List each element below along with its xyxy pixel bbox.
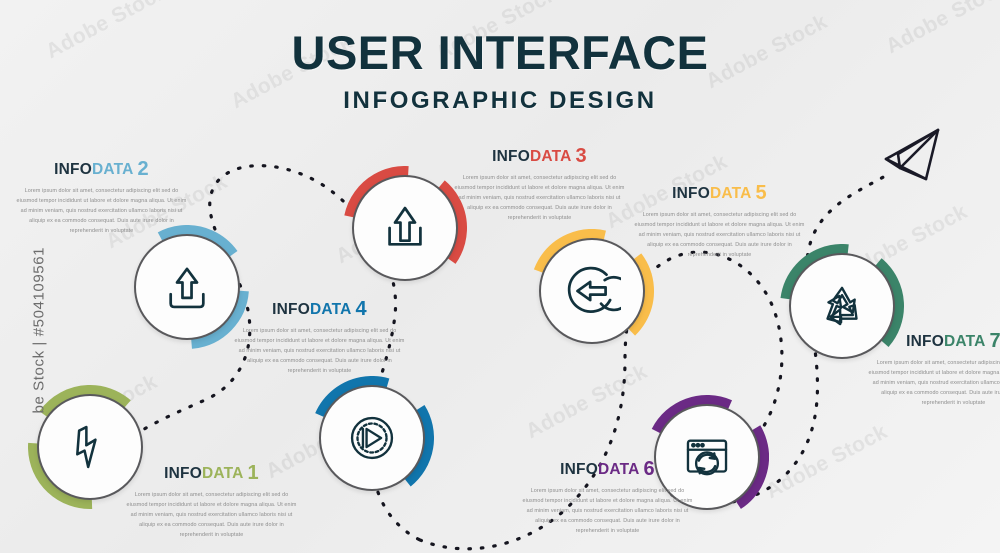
info-body-4: Lorem ipsum dolor sit amet, consectetur … xyxy=(232,326,407,376)
info-body-6: Lorem ipsum dolor sit amet, consectetur … xyxy=(520,486,695,536)
node-disc-4 xyxy=(319,385,425,491)
info-number: 2 xyxy=(138,158,149,180)
info-block-5: INFODATA5 Lorem ipsum dolor sit amet, co… xyxy=(632,182,807,260)
fast-forward-icon xyxy=(343,409,401,467)
stock-watermark-side: be Stock | #504109561 xyxy=(31,184,48,414)
page-title: USER INTERFACE xyxy=(0,28,1000,77)
info-title-4: INFODATA4 xyxy=(232,298,407,321)
info-prefix: INFO xyxy=(54,161,92,178)
node-circle-2[interactable] xyxy=(134,234,240,340)
info-block-1: INFODATA1 Lorem ipsum dolor sit amet, co… xyxy=(124,462,299,540)
info-body-1: Lorem ipsum dolor sit amet, consectetur … xyxy=(124,490,299,540)
info-word: DATA xyxy=(202,465,244,482)
info-number: 1 xyxy=(248,462,259,484)
info-prefix: INFO xyxy=(272,301,310,318)
info-title-1: INFODATA1 xyxy=(124,462,299,485)
info-word: DATA xyxy=(598,461,640,478)
node-disc-5 xyxy=(539,238,645,344)
info-word: DATA xyxy=(310,301,352,318)
info-word: DATA xyxy=(92,161,134,178)
info-block-6: INFODATA6 Lorem ipsum dolor sit amet, co… xyxy=(520,458,695,536)
info-block-7: INFODATA7 Lorem ipsum dolor sit amet, co… xyxy=(866,330,1000,408)
watermark-tile: Adobe Stock xyxy=(522,360,651,444)
node-circle-4[interactable] xyxy=(319,385,425,491)
arrow-left-circle-icon xyxy=(563,262,621,320)
node-circle-5[interactable] xyxy=(539,238,645,344)
info-title-5: INFODATA5 xyxy=(632,182,807,205)
info-title-2: INFODATA2 xyxy=(14,158,189,181)
paper-plane-icon xyxy=(876,124,948,186)
lightning-bolt-icon xyxy=(61,418,119,476)
node-circle-3[interactable] xyxy=(352,175,458,281)
info-prefix: INFO xyxy=(560,461,598,478)
recycle-arrows-icon xyxy=(813,277,871,335)
info-prefix: INFO xyxy=(492,148,530,165)
info-prefix: INFO xyxy=(672,185,710,202)
info-title-6: INFODATA6 xyxy=(520,458,695,481)
watermark-tile: Adobe Stock xyxy=(762,420,891,504)
info-body-7: Lorem ipsum dolor sit amet, consectetur … xyxy=(866,358,1000,408)
info-number: 7 xyxy=(990,330,1000,352)
info-number: 3 xyxy=(576,145,587,167)
upload-tray-icon xyxy=(158,258,216,316)
info-block-4: INFODATA4 Lorem ipsum dolor sit amet, co… xyxy=(232,298,407,376)
infographic-canvas: Adobe Stock Adobe Stock Adobe Stock Adob… xyxy=(0,0,1000,553)
page-subtitle: INFOGRAPHIC DESIGN xyxy=(0,87,1000,115)
info-word: DATA xyxy=(530,148,572,165)
info-number: 5 xyxy=(756,182,767,204)
share-upload-icon xyxy=(376,199,434,257)
info-body-5: Lorem ipsum dolor sit amet, consectetur … xyxy=(632,210,807,260)
info-prefix: INFO xyxy=(906,333,944,350)
info-title-3: INFODATA3 xyxy=(452,145,627,168)
node-disc-2 xyxy=(134,234,240,340)
page-header: USER INTERFACE INFOGRAPHIC DESIGN xyxy=(0,28,1000,115)
info-word: DATA xyxy=(710,185,752,202)
info-title-7: INFODATA7 xyxy=(866,330,1000,353)
info-word: DATA xyxy=(944,333,986,350)
node-disc-3 xyxy=(352,175,458,281)
info-number: 4 xyxy=(356,298,367,320)
info-block-3: INFODATA3 Lorem ipsum dolor sit amet, co… xyxy=(452,145,627,223)
info-number: 6 xyxy=(644,458,655,480)
info-prefix: INFO xyxy=(164,465,202,482)
info-body-3: Lorem ipsum dolor sit amet, consectetur … xyxy=(452,173,627,223)
